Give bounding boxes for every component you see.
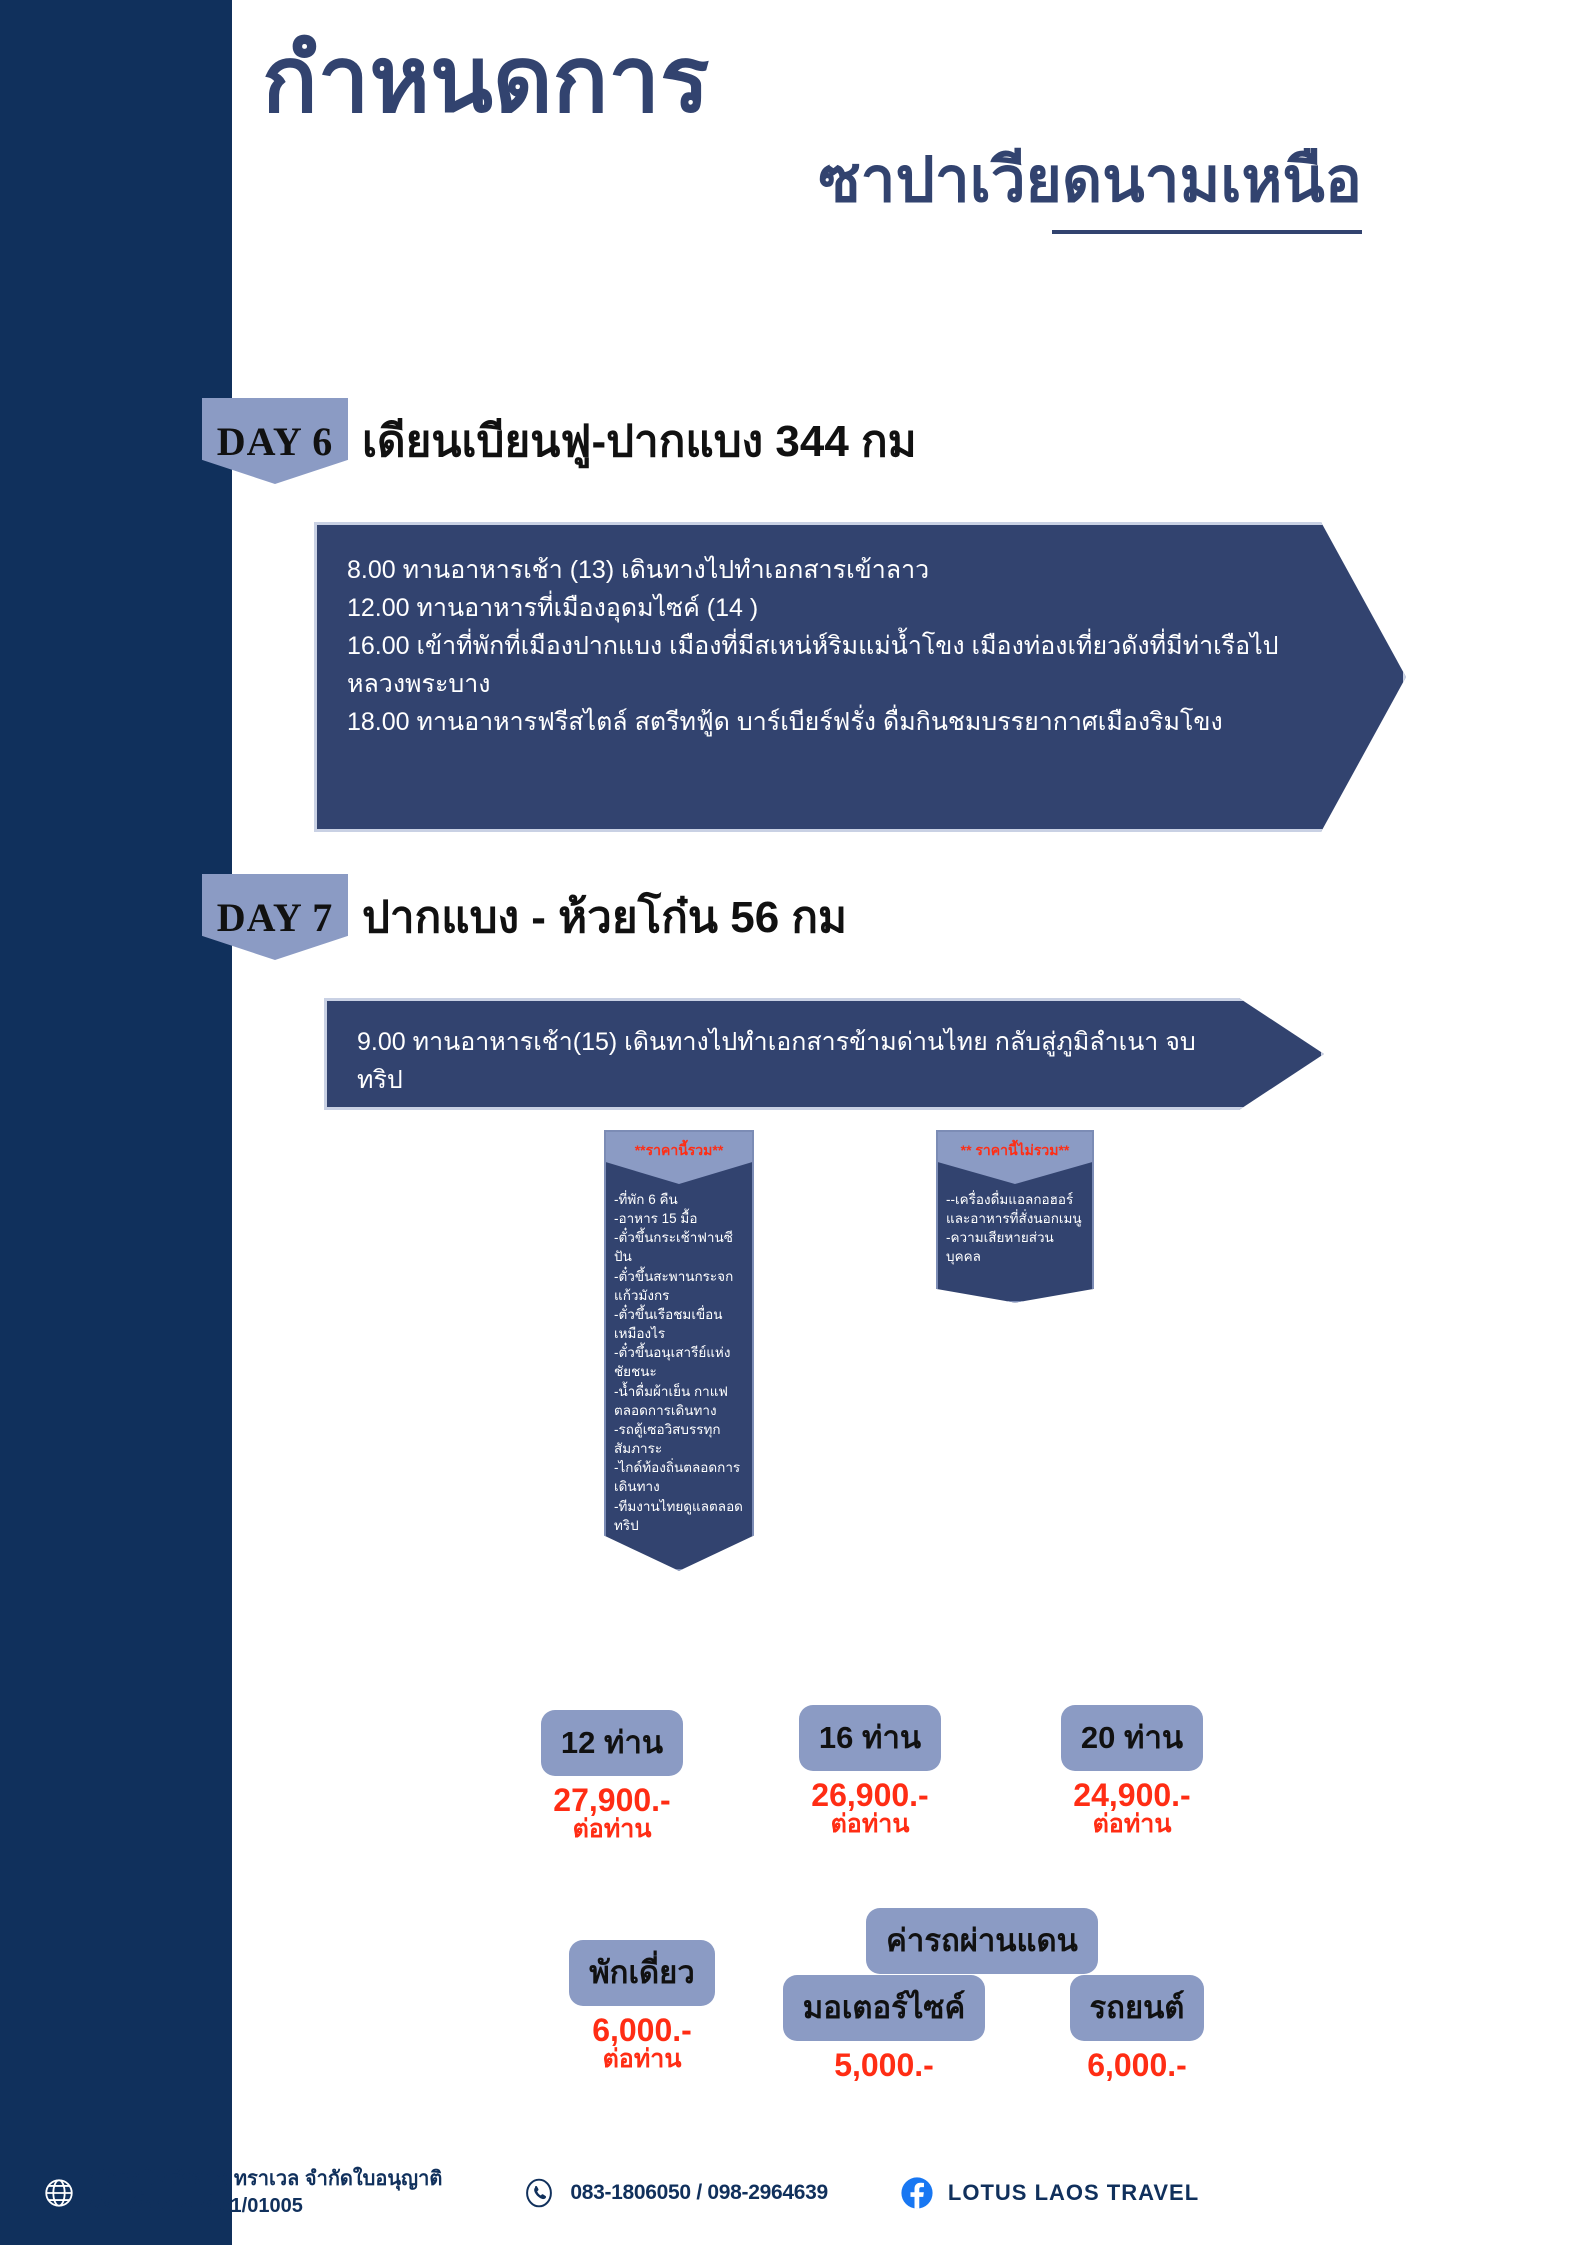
price-tier-pill: 20 ท่าน (1061, 1705, 1203, 1771)
itinerary-line: 8.00 ทานอาหารเช้า (13) เดินทางไปทำเอกสาร… (347, 551, 1283, 589)
single-room-price: พักเดี่ยว 6,000.- ต่อท่าน (532, 1940, 752, 2072)
phone-icon (522, 2176, 556, 2210)
border-fee-pill: มอเตอร์ไซค์ (783, 1975, 985, 2041)
footer-facebook-block[interactable]: LOTUS LAOS TRAVEL (900, 2176, 1199, 2210)
excluded-item: --เครื่องดื่มแอลกอฮอร์และอาหารที่สั่งนอก… (946, 1190, 1084, 1228)
itinerary-line: 9.00 ทานอาหารเช้า(15) เดินทางไปทำเอกสารข… (357, 1023, 1201, 1099)
excluded-banner: ** ราคานี้ไม่รวม** --เครื่องดื่มแอลกอฮอร… (936, 1130, 1094, 1303)
day-badge-7: DAY 7 (202, 874, 348, 960)
price-tier-unit: ต่อท่าน (502, 1816, 722, 1842)
day-row-7: DAY 7 ปากแบง - ห้วยโก๋น 56 กม (202, 874, 847, 960)
footer: บริษัท โลตัสลาว ทราเวล จำกัดใบอนุญาติ ท่… (0, 2140, 1587, 2245)
day-badge-6: DAY 6 (202, 398, 348, 484)
price-tier-pill: 12 ท่าน (541, 1710, 683, 1776)
single-room-pill: พักเดี่ยว (569, 1940, 715, 2006)
price-tier-amount: 27,900.- (502, 1784, 722, 1816)
page-subtitle: ซาปาเวียดนามเหนือ (232, 144, 1412, 218)
footer-facebook-name: LOTUS LAOS TRAVEL (948, 2180, 1199, 2206)
price-tier-20: 20 ท่าน 24,900.- ต่อท่าน (1022, 1705, 1242, 1837)
left-accent-band (0, 0, 232, 2245)
day-row-6: DAY 6 เดียนเบียนฟู-ปากแบง 344 กม (202, 398, 917, 484)
included-item: -ทีมงานไทยดูแลตลอดทริป (614, 1497, 744, 1535)
border-fee-amount: 6,000.- (1022, 2049, 1252, 2081)
itinerary-line: 18.00 ทานอาหารฟรีสไตล์ สตรีทฟู้ด บาร์เบี… (347, 703, 1283, 741)
footer-company-block: บริษัท โลตัสลาว ทราเวล จำกัดใบอนุญาติ ท่… (42, 2166, 442, 2219)
footer-phone-block[interactable]: 083-1806050 / 098-2964639 (522, 2176, 828, 2210)
border-fee-pill: รถยนต์ (1070, 1975, 1205, 2041)
border-fee-amount: 5,000.- (744, 2049, 1024, 2081)
included-item: -น้ำดื่มผ้าเย็น กาแฟตลอดการเดินทาง (614, 1382, 744, 1420)
border-fee-motorcycle: มอเตอร์ไซค์ 5,000.- (744, 1975, 1024, 2081)
globe-icon (42, 2176, 76, 2210)
included-heading: **ราคานี้รวม** (606, 1132, 752, 1184)
footer-phone-number: 083-1806050 / 098-2964639 (570, 2181, 828, 2205)
title-underline (1052, 230, 1362, 234)
border-fee-heading-wrap: ค่ารถผ่านแดน (832, 1908, 1132, 1974)
included-banner: **ราคานี้รวม** -ที่พัก 6 คืน -อาหาร 15 ม… (604, 1130, 754, 1571)
single-room-unit: ต่อท่าน (532, 2046, 752, 2072)
price-tier-amount: 24,900.- (1022, 1779, 1242, 1811)
included-item: -ตั๋วขึ้นเรือชมเขื่อนเหมืองไร (614, 1305, 744, 1343)
footer-company-name: บริษัท โลตัสลาว ทราเวล จำกัดใบอนุญาติ ท่… (90, 2166, 442, 2219)
included-item: -ไกด์ท้องถิ่นตลอดการเดินทาง (614, 1458, 744, 1496)
border-fee-heading: ค่ารถผ่านแดน (866, 1908, 1098, 1974)
page-content: กำหนดการ ซาปาเวียดนามเหนือ DAY 6 เดียนเบ… (232, 0, 1587, 2245)
day-route-6: เดียนเบียนฟู-ปากแบง 344 กม (362, 406, 917, 476)
price-tier-12: 12 ท่าน 27,900.- ต่อท่าน (502, 1710, 722, 1842)
page-header: กำหนดการ ซาปาเวียดนามเหนือ (232, 28, 1412, 234)
included-item: -ที่พัก 6 คืน (614, 1190, 744, 1209)
included-item: -ตั๋วขึ้นอนุเสารีย์แห่งชัยชนะ (614, 1343, 744, 1381)
included-item: -รถตู้เซอวิสบรรทุกสัมภาระ (614, 1420, 744, 1458)
excluded-list: --เครื่องดื่มแอลกอฮอร์และอาหารที่สั่งนอก… (938, 1184, 1092, 1301)
border-fee-car: รถยนต์ 6,000.- (1022, 1975, 1252, 2081)
itinerary-line: 12.00 ทานอาหารที่เมืองอุดมไซค์ (14 ) (347, 589, 1283, 627)
itinerary-box-day-7: 9.00 ทานอาหารเช้า(15) เดินทางไปทำเอกสารข… (324, 998, 1324, 1110)
price-tier-pill: 16 ท่าน (799, 1705, 941, 1771)
itinerary-box-day-6: 8.00 ทานอาหารเช้า (13) เดินทางไปทำเอกสาร… (314, 522, 1406, 832)
excluded-heading: ** ราคานี้ไม่รวม** (938, 1132, 1092, 1184)
itinerary-line: 16.00 เข้าที่พักที่เมืองปากแบง เมืองที่ม… (347, 627, 1283, 703)
included-list: -ที่พัก 6 คืน -อาหาร 15 มื้อ -ตั๋วขึ้นกร… (606, 1184, 752, 1569)
price-tier-unit: ต่อท่าน (1022, 1811, 1242, 1837)
single-room-amount: 6,000.- (532, 2014, 752, 2046)
excluded-item: -ความเสียหายส่วนบุคคล (946, 1228, 1084, 1266)
day-route-7: ปากแบง - ห้วยโก๋น 56 กม (362, 882, 847, 952)
page-title: กำหนดการ (232, 28, 1412, 134)
price-tier-unit: ต่อท่าน (760, 1811, 980, 1837)
price-tier-16: 16 ท่าน 26,900.- ต่อท่าน (760, 1705, 980, 1837)
price-tier-amount: 26,900.- (760, 1779, 980, 1811)
included-item: -ตั๋วขึ้นกระเช้าฟานซีปัน (614, 1228, 744, 1266)
included-item: -ตั๋วขึ้นสะพานกระจกแก้วมังกร (614, 1267, 744, 1305)
included-item: -อาหาร 15 มื้อ (614, 1209, 744, 1228)
facebook-icon (900, 2176, 934, 2210)
